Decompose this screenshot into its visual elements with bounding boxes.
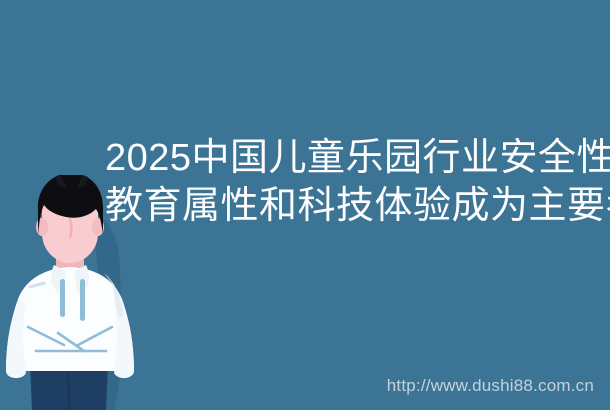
site-url-watermark: http://www.dushi88.com.cn <box>387 376 594 396</box>
headline-line-1: 2025中国儿童乐园行业安全性 <box>105 134 605 182</box>
article-cover-banner: 2025中国儿童乐园行业安全性 教育属性和科技体验成为主要考虑 http://w… <box>0 0 610 410</box>
headline-line-2: 教育属性和科技体验成为主要考虑 <box>105 182 605 230</box>
headline: 2025中国儿童乐园行业安全性 教育属性和科技体验成为主要考虑 <box>105 134 605 230</box>
